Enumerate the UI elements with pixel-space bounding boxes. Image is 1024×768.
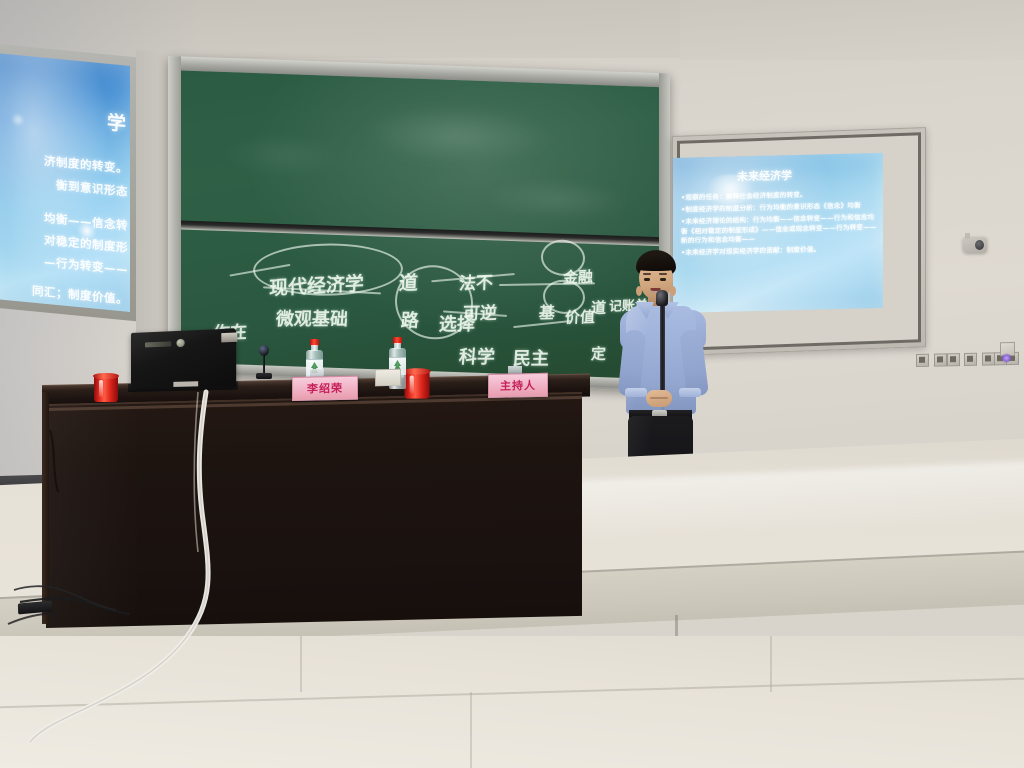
chalk-text: 微观基础 xyxy=(275,305,349,331)
floor-tile-seam xyxy=(470,692,472,768)
wall-outlet[interactable] xyxy=(916,354,929,367)
floor xyxy=(0,636,1024,768)
presenter-eye xyxy=(660,278,666,281)
chalk-text: 道 xyxy=(590,297,606,318)
chalk-circle xyxy=(543,279,585,314)
nameplate-moderator: 主持人 xyxy=(488,373,548,398)
left-slide-line-6: 同汇；制度价值。 xyxy=(32,283,128,308)
floor-tile-seam xyxy=(0,678,1024,709)
chalkboard-frame-left xyxy=(168,56,181,374)
laptop[interactable] xyxy=(131,328,236,389)
chalk-smudge xyxy=(481,177,631,222)
nameplate-speaker: 李绍荣 xyxy=(292,376,358,401)
presenter-ear xyxy=(636,286,642,296)
chalk-circle xyxy=(252,242,405,297)
wall-outlet[interactable] xyxy=(964,353,977,366)
chalk-circle xyxy=(541,239,585,277)
laptop-foot xyxy=(173,381,198,387)
presenter-eyebrow xyxy=(643,273,651,275)
microphone-icon xyxy=(656,290,668,306)
right-slide-title: 未来经济学 xyxy=(737,167,792,184)
chalk-connector xyxy=(513,320,571,328)
camera-lens-icon xyxy=(975,240,984,250)
chalkboard-surface: 作在现代经济学微观基础道路选择法不可逆科学民主基金融价值道记账单行为定做不 xyxy=(181,70,659,385)
lecture-hall-photo: 学 济制度的转变。 衡到意识形态 均衡——信念转 对稳定的制度形 —行为转变——… xyxy=(0,0,1024,768)
left-slide-line-4: 对稳定的制度形 xyxy=(44,232,128,256)
left-slide-title: 学 xyxy=(107,108,126,137)
chalkboard-panel-divider xyxy=(181,220,659,246)
chalkboard: 作在现代经济学微观基础道路选择法不可逆科学民主基金融价值道记账单行为定做不 xyxy=(168,56,670,392)
microphone-stand xyxy=(660,294,665,398)
left-slide-line-2: 衡到意识形态 xyxy=(56,177,128,200)
floor-tile-seam xyxy=(770,636,772,692)
wall-outlet[interactable] xyxy=(934,353,947,366)
laptop-hinge xyxy=(221,332,237,342)
laptop-logo xyxy=(145,341,171,347)
paper-sheet[interactable] xyxy=(375,369,401,387)
cup-highlight xyxy=(410,376,414,394)
chalk-smudge xyxy=(361,103,551,168)
presenter-eyebrow xyxy=(659,273,667,275)
presenter-cuff xyxy=(679,388,701,397)
nameplate-moderator-text: 主持人 xyxy=(500,377,536,394)
left-projection-screen: 学 济制度的转变。 衡到意识形态 均衡——信念转 对稳定的制度形 —行为转变——… xyxy=(0,53,130,312)
microphone-stem xyxy=(263,354,265,374)
wall-outlet[interactable] xyxy=(947,353,960,366)
red-cup-left[interactable] xyxy=(94,376,118,402)
red-cup-right[interactable] xyxy=(404,371,429,398)
projector-hotspot-2 xyxy=(10,112,26,127)
chalk-text: 科学 xyxy=(458,343,496,369)
table-front-panel xyxy=(46,392,582,628)
floor-tile-seam xyxy=(300,636,302,692)
presenter-eye xyxy=(644,278,650,281)
table-left-edge xyxy=(42,392,49,624)
left-slide-line-1: 济制度的转变。 xyxy=(44,153,128,177)
wall-outlet-row[interactable] xyxy=(916,350,1024,368)
presenter-cuff xyxy=(625,388,647,397)
wall-between-screen-and-board xyxy=(136,50,172,343)
presenter-ear xyxy=(670,286,676,296)
presenter-hands xyxy=(646,390,672,407)
nameplate-speaker-text: 李绍荣 xyxy=(307,380,343,397)
cup-highlight xyxy=(99,380,103,397)
camera-mount-arm xyxy=(965,233,970,239)
desk-microphone[interactable] xyxy=(259,345,269,379)
wall-camera xyxy=(963,237,987,253)
laptop-sticker-icon xyxy=(176,339,184,347)
microphone-base xyxy=(256,373,272,379)
left-slide-line-5: —行为转变—— xyxy=(44,254,128,278)
right-slide-bullet: 未来经济理论的结构：行为均衡——信念转变——行为和信念均衡《相对稳定的制度形成》… xyxy=(681,213,878,247)
wall-upper-right-panel xyxy=(680,0,1024,60)
chalk-circle xyxy=(394,265,475,339)
chalk-text: 定 xyxy=(590,343,606,364)
chalk-smudge xyxy=(221,132,341,178)
